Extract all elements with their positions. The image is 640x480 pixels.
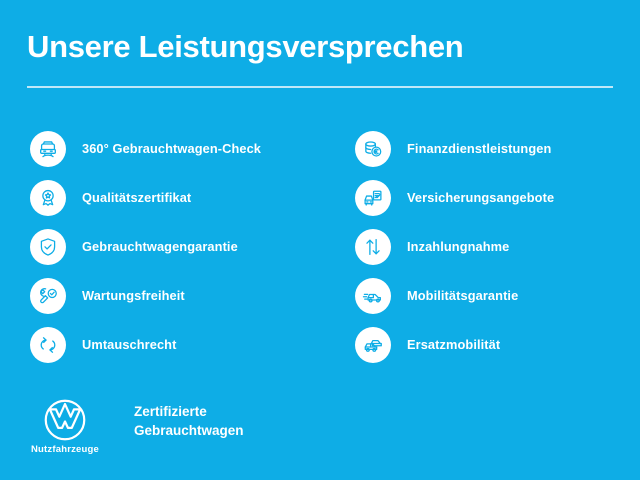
promises-column-right: Finanzdienstleistungen Versicherungsange… [315,124,640,369]
car-lift-inspection-icon [30,131,66,167]
coins-euro-icon [355,131,391,167]
slide-root: Unsere Leistungsversprechen 360° Gebrauc… [0,0,640,480]
promise-label: Umtauschrecht [82,337,176,352]
footer-line-1: Zertifizierte [134,402,244,421]
page-title: Unsere Leistungsversprechen [27,30,463,64]
award-ribbon-icon [30,180,66,216]
promises-column-left: 360° Gebrauchtwagen-Check Qualitätszerti… [0,124,315,369]
promise-item[interactable]: Qualitätszertifikat [30,173,315,222]
car-document-check-icon [355,180,391,216]
promise-item[interactable]: Inzahlungnahme [355,222,640,271]
promise-label: 360° Gebrauchtwagen-Check [82,141,261,156]
promise-item[interactable]: Umtauschrecht [30,320,315,369]
promise-item[interactable]: Gebrauchtwagengarantie [30,222,315,271]
promises-columns: 360° Gebrauchtwagen-Check Qualitätszerti… [0,124,640,369]
car-motion-icon [355,278,391,314]
promise-item[interactable]: Versicherungsangebote [355,173,640,222]
promise-label: Mobilitätsgarantie [407,288,518,303]
promise-item[interactable]: 360° Gebrauchtwagen-Check [30,124,315,173]
footer-line-2: Gebrauchtwagen [134,421,244,440]
promise-label: Wartungsfreiheit [82,288,185,303]
promise-item[interactable]: Finanzdienstleistungen [355,124,640,173]
promise-label: Versicherungsangebote [407,190,554,205]
footer: Nutzfahrzeuge Zertifizierte Gebrauchtwag… [30,398,244,455]
promise-item[interactable]: Ersatzmobilität [355,320,640,369]
promise-item[interactable]: Wartungsfreiheit [30,271,315,320]
promise-item[interactable]: Mobilitätsgarantie [355,271,640,320]
title-divider [27,86,613,88]
promise-label: Gebrauchtwagengarantie [82,239,238,254]
up-down-arrows-icon [355,229,391,265]
promise-label: Ersatzmobilität [407,337,500,352]
promise-label: Finanzdienstleistungen [407,141,551,156]
promise-label: Qualitätszertifikat [82,190,191,205]
volkswagen-logo [43,398,87,442]
wrench-check-icon [30,278,66,314]
footer-text: Zertifizierte Gebrauchtwagen [134,402,244,440]
brand-subtitle: Nutzfahrzeuge [31,444,99,455]
two-cars-icon [355,327,391,363]
promise-label: Inzahlungnahme [407,239,509,254]
shield-check-icon [30,229,66,265]
exchange-arrows-icon [30,327,66,363]
brand-block: Nutzfahrzeuge [30,398,100,455]
